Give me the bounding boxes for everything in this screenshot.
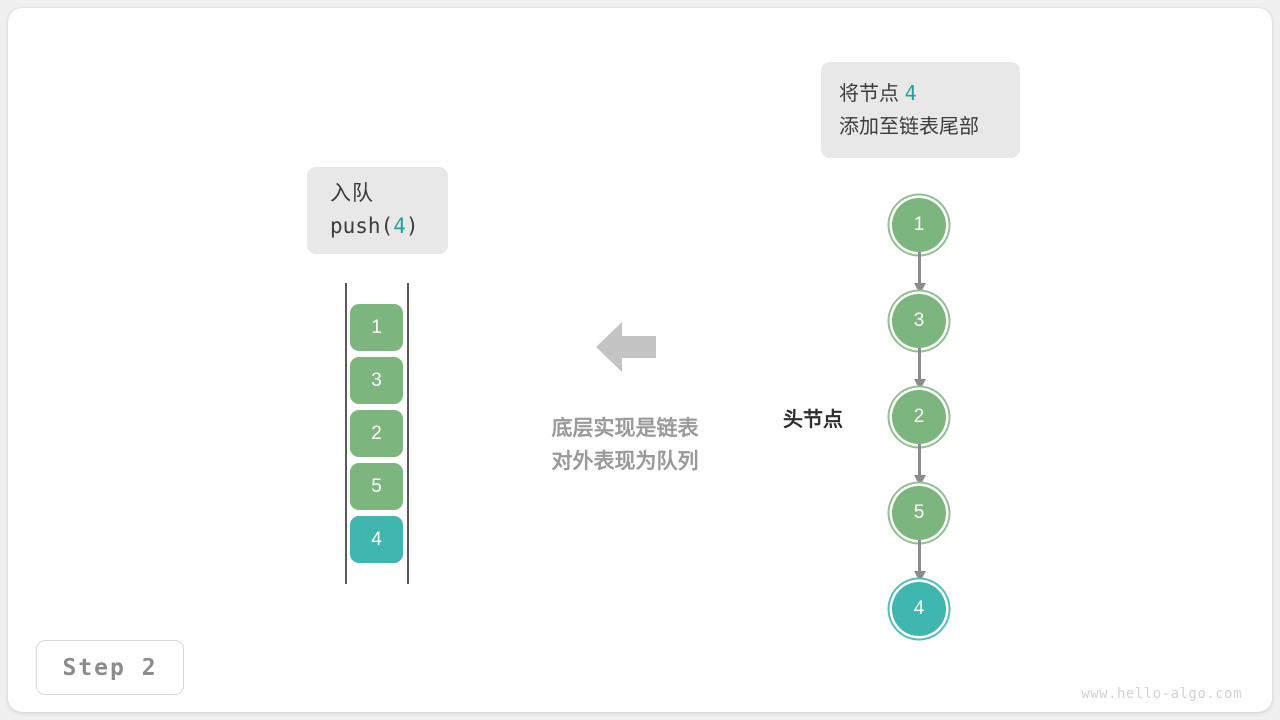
linked-list-node-value: 3 [914, 310, 925, 332]
center-caption: 底层实现是链表 对外表现为队列 [510, 412, 740, 478]
append-label-prefix: 将节点 [839, 83, 905, 105]
queue-cell-list: 13254 [350, 304, 403, 569]
append-label-line2: 添加至链表尾部 [839, 113, 1020, 141]
queue-cell: 1 [350, 304, 403, 351]
watermark: www.hello-algo.com [1081, 686, 1242, 702]
connector-shaft [918, 540, 921, 573]
linked-list-node: 2 [892, 390, 946, 444]
linked-list-node: 4 [892, 582, 946, 636]
push-call-prefix: push( [330, 214, 393, 238]
queue-cell-value: 1 [371, 317, 382, 339]
push-label-line1: 入队 [330, 179, 448, 209]
node-connector-arrow [915, 348, 923, 390]
queue-cell-value: 3 [371, 370, 382, 392]
node-connector-arrow [915, 540, 923, 582]
queue-visualization: 13254 [345, 283, 409, 584]
queue-cell: 2 [350, 410, 403, 457]
linked-list-node-value: 5 [914, 502, 925, 524]
queue-cell-value: 2 [371, 423, 382, 445]
connector-shaft [918, 252, 921, 285]
node-connector-arrow [915, 252, 923, 294]
connector-arrowhead [914, 475, 926, 486]
left-arrow-icon [596, 320, 656, 374]
head-node-label: 头节点 [783, 403, 843, 432]
linked-list-node-value: 2 [914, 406, 925, 428]
queue-cell-value: 5 [371, 476, 382, 498]
connector-arrowhead [914, 283, 926, 294]
append-label-value: 4 [905, 81, 917, 105]
linked-list-node: 1 [892, 198, 946, 252]
node-connector-arrow [915, 444, 923, 486]
push-call-suffix: ) [406, 214, 419, 238]
queue-cell: 5 [350, 463, 403, 510]
queue-cell: 3 [350, 357, 403, 404]
queue-cell: 4 [350, 516, 403, 563]
connector-arrowhead [914, 379, 926, 390]
connector-shaft [918, 348, 921, 381]
connector-shaft [918, 444, 921, 477]
append-label-line1: 将节点 4 [839, 79, 1020, 108]
push-operation-label: 入队 push(4) [307, 167, 448, 254]
linked-list-node-value: 4 [914, 598, 925, 620]
push-label-call: push(4) [330, 212, 448, 242]
diagram-canvas: 入队 push(4) 将节点 4 添加至链表尾部 13254 底层实现是链表 对… [0, 0, 1280, 720]
connector-arrowhead [914, 571, 926, 582]
linked-list-node-value: 1 [914, 214, 925, 236]
center-caption-line2: 对外表现为队列 [510, 445, 740, 478]
center-caption-line1: 底层实现是链表 [510, 412, 740, 445]
queue-cell-value: 4 [371, 529, 382, 551]
linked-list-node: 3 [892, 294, 946, 348]
queue-rail-left [345, 283, 347, 584]
push-call-value: 4 [393, 214, 406, 238]
linked-list-visualization: 头节点 尾节点 13254 [760, 190, 990, 650]
queue-rail-right [407, 283, 409, 584]
append-node-label: 将节点 4 添加至链表尾部 [821, 62, 1020, 158]
step-badge: Step 2 [36, 640, 184, 695]
linked-list-node: 5 [892, 486, 946, 540]
